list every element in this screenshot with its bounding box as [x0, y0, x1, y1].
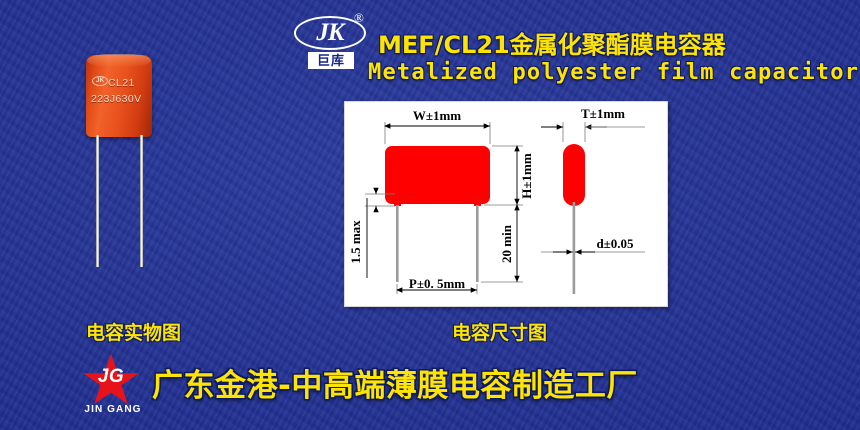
label-seal-height: 1.5 max: [348, 220, 363, 264]
label-thickness: T±1mm: [581, 106, 625, 121]
capacitor-product-photo: JK CL21 223J630V: [60, 45, 230, 280]
front-view-lead-right: [476, 205, 479, 282]
label-width: W±1mm: [413, 108, 461, 123]
side-view-lead: [573, 202, 576, 294]
front-view-body: [385, 146, 490, 204]
label-pitch: P±0. 5mm: [409, 276, 465, 291]
label-lead-diameter: d±0.05: [596, 236, 634, 251]
capacitor-top-highlight: [87, 54, 151, 67]
capacitor-label-rating: 223J630V: [91, 93, 142, 105]
capacitor-lead-left: [96, 135, 99, 267]
label-height: H±1mm: [519, 153, 534, 199]
capacitor-lead-right: [140, 135, 143, 267]
side-view-body: [563, 144, 585, 206]
banner-slogan: 广东金港-中高端薄膜电容制造工厂: [152, 360, 638, 405]
label-lead-length: 20 min: [499, 224, 514, 263]
registered-trademark-icon: ®: [354, 10, 364, 26]
caption-product-photo: 电容实物图: [86, 318, 181, 345]
title-english: Metalized polyester film capacitor: [368, 60, 859, 85]
caption-dimension-diagram: 电容尺寸图: [452, 318, 547, 345]
title-chinese: MEF/CL21金属化聚酯膜电容器: [378, 25, 726, 60]
star-logo-letters: JG: [82, 366, 140, 388]
front-view-lead-left: [396, 205, 399, 282]
capacitor-label-series: CL21: [108, 77, 135, 89]
poster-canvas: JK ® 巨库 MEF/CL21金属化聚酯膜电容器 Metalized poly…: [0, 0, 860, 430]
bottom-banner: JG JIN GANG 广东金港-中高端薄膜电容制造工厂: [0, 352, 860, 430]
jingang-star-logo: JG JIN GANG: [78, 354, 150, 416]
dimension-drawing-svg: W±1mm H±1mm 20 min 1.5 max P±0. 5mm: [345, 102, 667, 306]
jk-logo-chinese-name: 巨库: [308, 52, 354, 69]
capacitor-jk-mark-icon: JK: [92, 76, 108, 86]
dimension-drawing-panel: W±1mm H±1mm 20 min 1.5 max P±0. 5mm: [344, 101, 668, 307]
star-logo-pinyin: JIN GANG: [78, 404, 148, 415]
